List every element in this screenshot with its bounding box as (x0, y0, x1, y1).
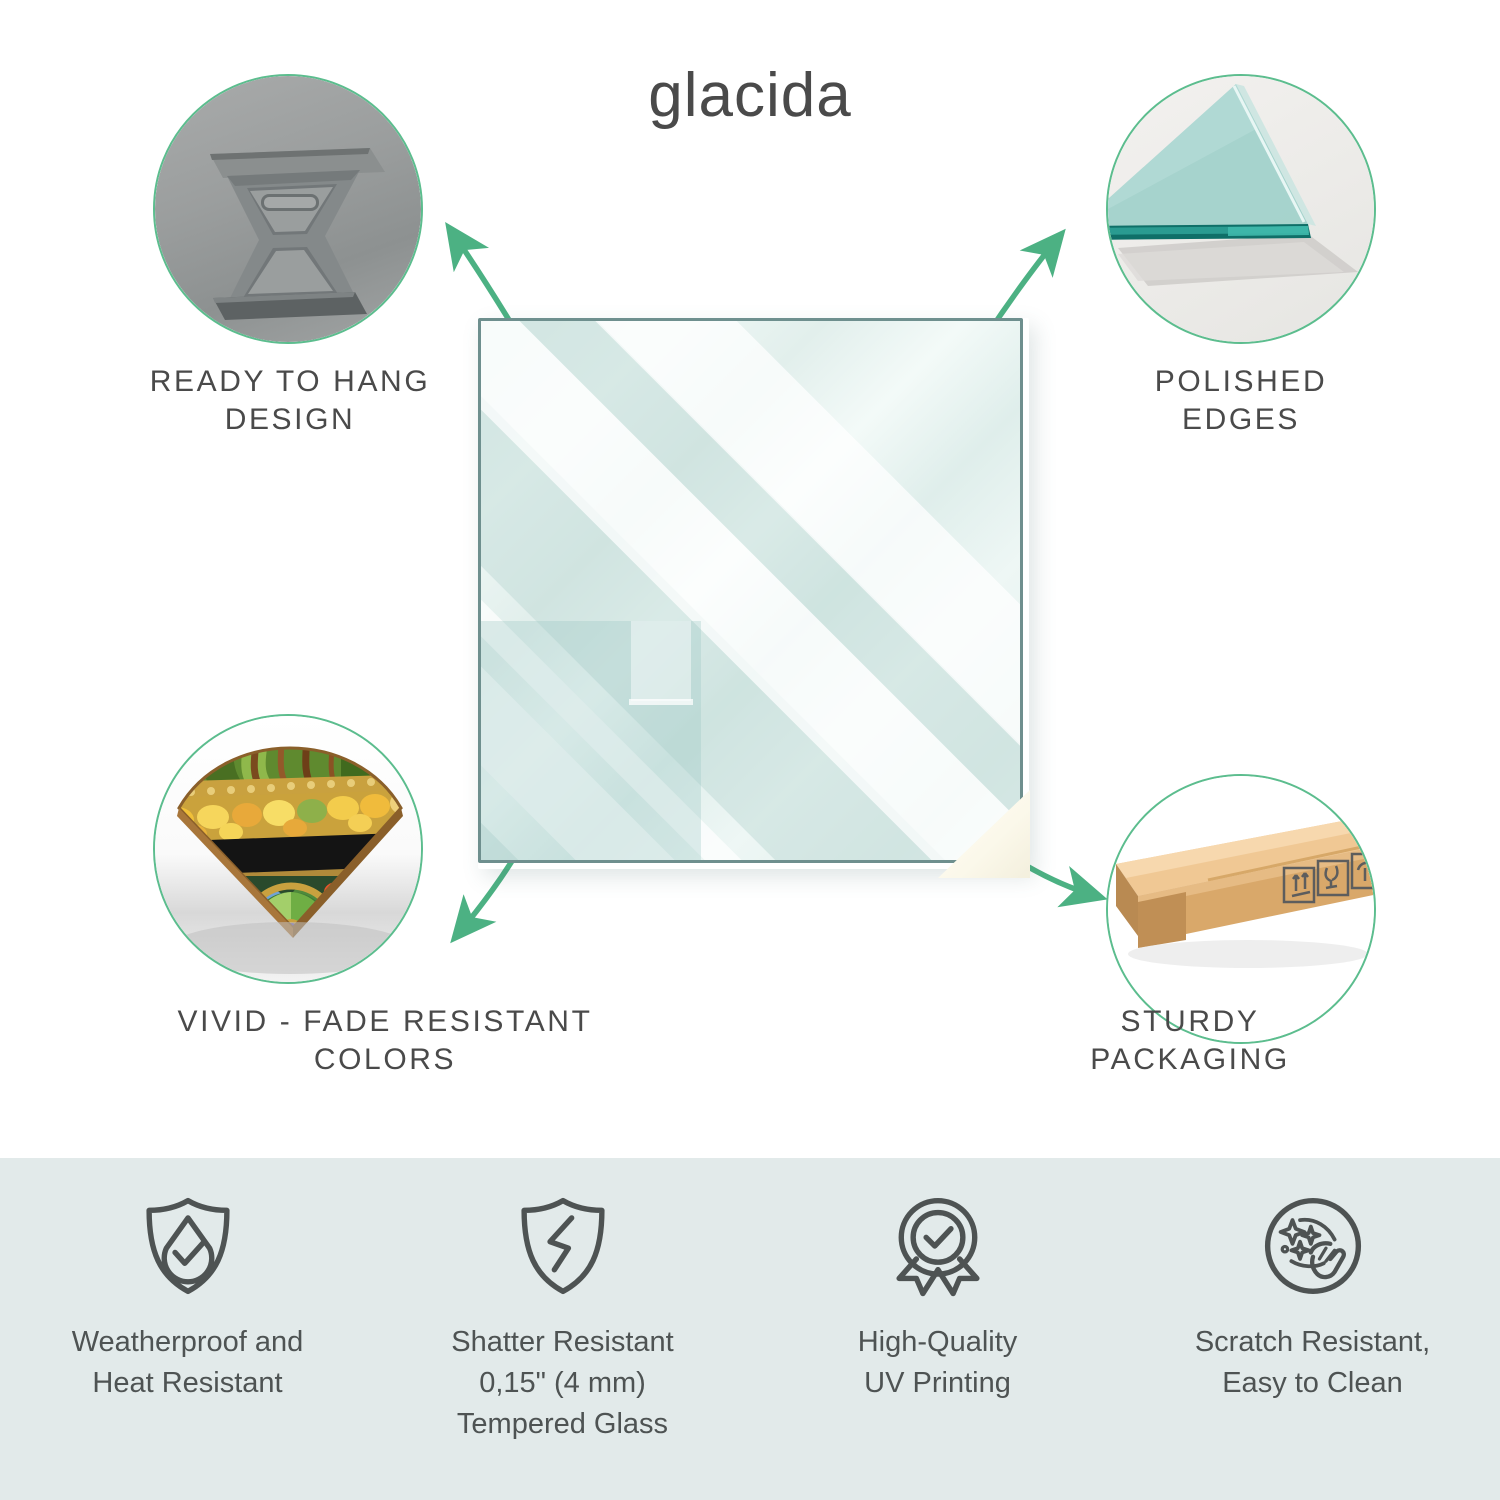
bottom-feature-text-scratch-resistant: Scratch Resistant, Easy to Clean (1195, 1322, 1430, 1404)
bottom-feature-text-shatter-resistant: Shatter Resistant 0,15" (4 mm) Tempered … (451, 1322, 673, 1446)
bottom-feature-uv-printing: High-Quality UV Printing (750, 1158, 1125, 1500)
feature-label-sturdy-packaging: STURDY PACKAGING (960, 1003, 1420, 1080)
feature-circle-polished-edges (1106, 74, 1376, 344)
tempered-glass-panel (478, 318, 1023, 863)
shield-droplet-check-icon (134, 1192, 242, 1300)
bottom-feature-scratch-resistant: Scratch Resistant, Easy to Clean (1125, 1158, 1500, 1500)
feature-circle-ready-to-hang (153, 74, 423, 344)
bottom-feature-shatter-resistant: Shatter Resistant 0,15" (4 mm) Tempered … (375, 1158, 750, 1500)
bottom-feature-text-weatherproof: Weatherproof and Heat Resistant (72, 1322, 304, 1404)
hanging-bracket-photo (155, 76, 421, 342)
sparkle-hand-clean-icon (1259, 1192, 1367, 1300)
glass-edge-photo (1108, 76, 1374, 342)
feature-circle-vivid-colors (153, 714, 423, 984)
bottom-feature-bar: Weatherproof and Heat Resistant Shatter … (0, 1158, 1500, 1500)
bottom-feature-text-uv-printing: High-Quality UV Printing (858, 1322, 1018, 1404)
feature-label-ready-to-hang: READY TO HANG DESIGN (60, 363, 520, 440)
shield-bolt-icon (509, 1192, 617, 1300)
award-medal-check-icon (884, 1192, 992, 1300)
feature-label-polished-edges: POLISHED EDGES (1006, 363, 1476, 440)
feature-label-vivid-colors: VIVID - FADE RESISTANT COLORS (40, 1003, 730, 1080)
infographic-canvas: glacida (0, 0, 1500, 1500)
bottom-feature-weatherproof: Weatherproof and Heat Resistant (0, 1158, 375, 1500)
stained-glass-art-photo (155, 716, 421, 982)
